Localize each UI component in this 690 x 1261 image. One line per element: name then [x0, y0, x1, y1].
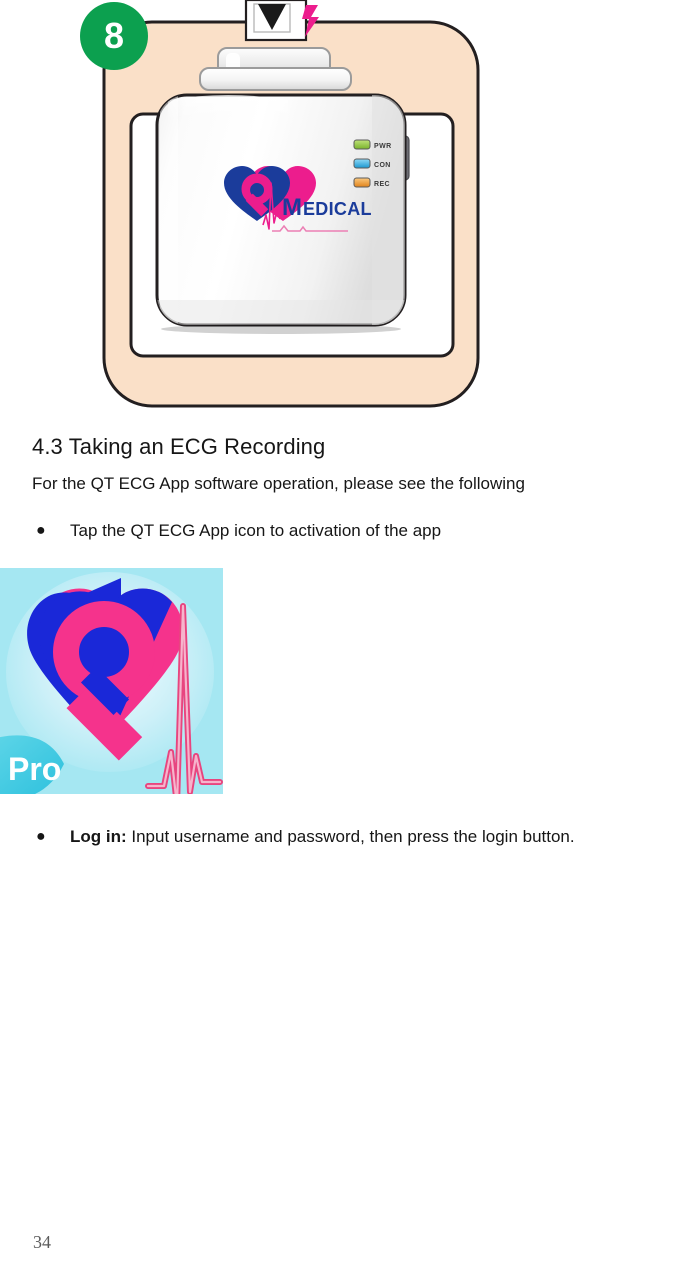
device-top-bar [200, 68, 351, 90]
list-item-lead: Log in: [70, 827, 127, 846]
page-content: 4.3 Taking an ECG Recording For the QT E… [0, 430, 690, 546]
list-item-text: Log in: Input username and password, the… [70, 822, 690, 852]
svg-text:M: M [282, 194, 302, 221]
step-number-badge: 8 [80, 2, 148, 70]
qt-ecg-app-icon[interactable]: Pro [0, 568, 223, 794]
page-title: 4.3 Taking an ECG Recording [0, 430, 690, 464]
svg-text:EDICAL: EDICAL [303, 199, 372, 219]
pro-badge-label: Pro [8, 751, 61, 787]
app-icon-svg: Pro [0, 568, 223, 794]
figure-device-illustration: PWR CON REC M EDICAL [0, 0, 690, 418]
svg-text:CON: CON [374, 162, 391, 169]
bullet-dot-icon: ● [36, 516, 70, 546]
intro-paragraph: For the QT ECG App software operation, p… [0, 464, 690, 498]
list-item-body: Input username and password, then press … [127, 827, 575, 846]
list-item: ● Log in: Input username and password, t… [0, 822, 690, 852]
svg-text:PWR: PWR [374, 143, 392, 150]
list-item: ● Tap the QT ECG App icon to activation … [0, 516, 690, 546]
bullet-dot-icon: ● [36, 822, 70, 852]
svg-text:REC: REC [374, 181, 390, 188]
page-number: 34 [33, 1232, 51, 1253]
list-item-text: Tap the QT ECG App icon to activation of… [70, 516, 690, 546]
